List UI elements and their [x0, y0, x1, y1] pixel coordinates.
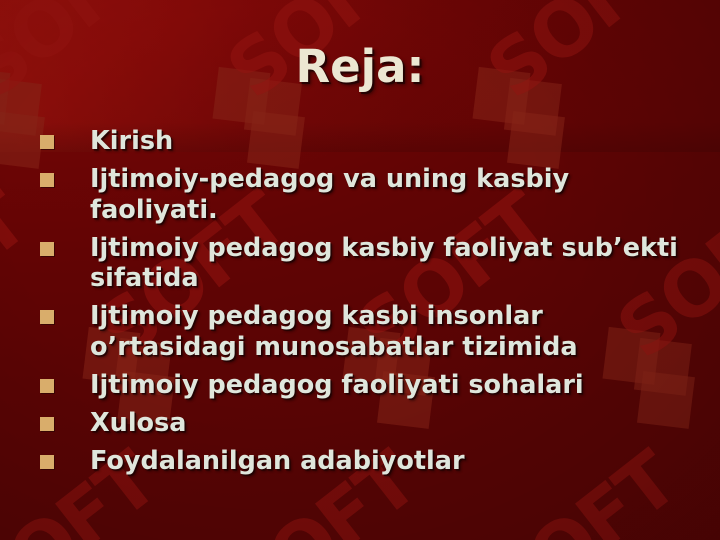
- bullet-square-icon: [40, 173, 54, 187]
- bullet-square-icon: [40, 455, 54, 469]
- bullet-list-item: Xulosa: [40, 408, 688, 439]
- bullet-list-item: Ijtimoiy pedagog faoliyati sohalari: [40, 370, 688, 401]
- bullet-list-item: Kirish: [40, 126, 688, 157]
- bullet-square-icon: [40, 417, 54, 431]
- bullet-list-item: Ijtimoiy-pedagog va uning kasbiy faoliya…: [40, 164, 688, 226]
- bullet-item-text: Ijtimoiy pedagog faoliyati sohalari: [90, 370, 688, 401]
- bullet-square-icon: [40, 135, 54, 149]
- bullet-square-icon: [40, 379, 54, 393]
- bullet-item-text: Xulosa: [90, 408, 688, 439]
- bullet-item-text: Ijtimoiy pedagog kasbi insonlar o’rtasid…: [90, 301, 688, 363]
- bullet-item-text: Ijtimoiy pedagog kasbiy faoliyat sub’ekt…: [90, 233, 688, 295]
- bullet-square-icon: [40, 242, 54, 256]
- bullet-item-text: Ijtimoiy-pedagog va uning kasbiy faoliya…: [90, 164, 688, 226]
- slide-canvas: SOFTSOFTSOFTSOFTSOFTSOFTSOFTSOFTSOFTSOFT…: [0, 0, 720, 540]
- slide-title: Reja:: [0, 40, 720, 93]
- bullet-item-text: Kirish: [90, 126, 688, 157]
- bullet-square-icon: [40, 310, 54, 324]
- bullet-item-text: Foydalanilgan adabiyotlar: [90, 446, 688, 477]
- bullet-list-item: Ijtimoiy pedagog kasbi insonlar o’rtasid…: [40, 301, 688, 363]
- bullet-list-item: Foydalanilgan adabiyotlar: [40, 446, 688, 477]
- bullet-list-item: Ijtimoiy pedagog kasbiy faoliyat sub’ekt…: [40, 233, 688, 295]
- bullet-list: KirishIjtimoiy-pedagog va uning kasbiy f…: [40, 126, 688, 483]
